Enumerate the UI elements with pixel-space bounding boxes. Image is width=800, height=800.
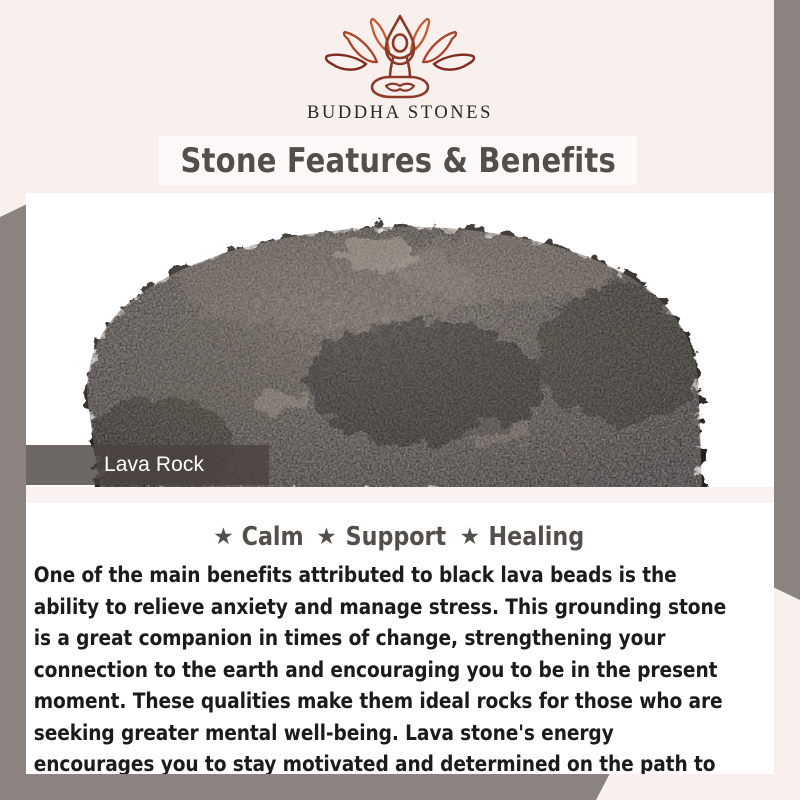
benefits-section: ★ Calm ★ Support ★ Healing One of the ma… [26, 503, 774, 774]
brand-name: BUDDHA STONES [307, 103, 493, 124]
photo-caption-bar: Lava Rock [26, 445, 269, 485]
feature-label: Healing [489, 522, 585, 552]
page-title-panel: Stone Features & Benefits [159, 136, 637, 185]
feature-list: ★ Calm ★ Support ★ Healing [26, 503, 774, 556]
star-icon: ★ [316, 525, 337, 548]
lotus-meditation-icon [324, 14, 476, 100]
star-icon: ★ [213, 525, 234, 548]
star-icon: ★ [460, 525, 481, 548]
brand-logo: BUDDHA STONES [26, 14, 774, 124]
lava-rock-image [26, 193, 774, 487]
page-title: Stone Features & Benefits [180, 141, 615, 181]
header: BUDDHA STONES Stone Features & Benefits [26, 0, 774, 193]
benefits-description: One of the main benefits attributed to b… [26, 556, 752, 774]
feature-label: Support [345, 522, 446, 552]
feature-item: ★ Support [316, 522, 448, 552]
feature-item: ★ Calm [213, 522, 305, 552]
photo-caption: Lava Rock [26, 453, 204, 477]
stone-photo: Lava Rock [26, 193, 774, 487]
content-card: BUDDHA STONES Stone Features & Benefits [26, 0, 774, 774]
feature-item: ★ Healing [460, 522, 587, 552]
feature-label: Calm [241, 522, 303, 552]
stone-features-infographic: BUDDHA STONES Stone Features & Benefits [0, 0, 800, 800]
section-divider [26, 487, 774, 503]
